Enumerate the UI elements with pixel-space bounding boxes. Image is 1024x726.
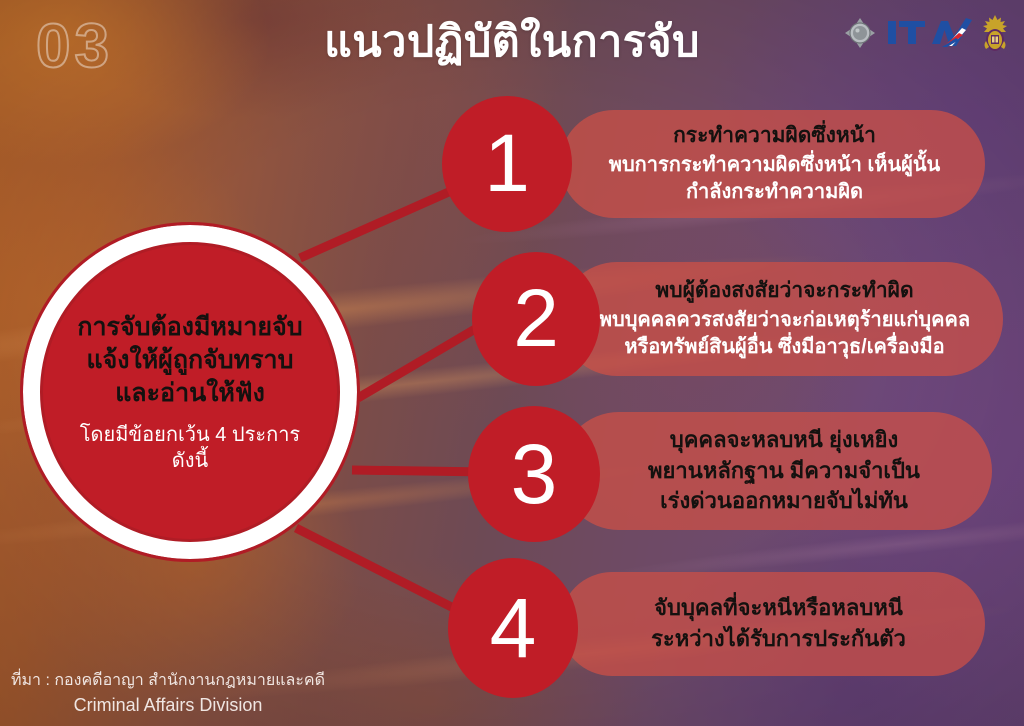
center-node: การจับต้องมีหมายจับ แจ้งให้ผู้ถูกจับทราบ…	[20, 222, 360, 562]
center-subtext-line-2: ดังนี้	[80, 448, 300, 474]
item-3-pill: บุคคลจะหลบหนี ยุ่งเหยิง พยานหลักฐาน มีคว…	[560, 412, 992, 530]
item-1-number: 1	[484, 123, 530, 205]
item-3-body: บุคคลจะหลบหนี ยุ่งเหยิง พยานหลักฐาน มีคว…	[648, 425, 920, 517]
item-2-body: พบบุคคลควรสงสัยว่าจะก่อเหตุร้ายแก่บุคคล …	[599, 307, 970, 361]
item-2-number-badge: 2	[472, 252, 600, 386]
center-subtext-line-1: โดยมีข้อยกเว้น 4 ประการ	[80, 422, 300, 448]
item-4-body-line-2: ระหว่างได้รับการประกันตัว	[651, 624, 906, 655]
center-headline-line-1: การจับต้องมีหมายจับ	[77, 311, 302, 344]
item-1-body-line-1: พบการกระทำความผิดซึ่งหน้า เห็นผู้นั้น	[609, 152, 940, 179]
connector-line-3	[352, 470, 487, 472]
item-2-heading: พบผู้ต้องสงสัยว่าจะกระทำผิด	[655, 277, 913, 304]
item-1-body: พบการกระทำความผิดซึ่งหน้า เห็นผู้นั้น กำ…	[609, 152, 940, 206]
item-1-number-badge: 1	[442, 96, 572, 232]
item-3-body-line-1: บุคคลจะหลบหนี ยุ่งเหยิง	[648, 425, 920, 456]
center-headline-line-3: และอ่านให้ฟัง	[77, 377, 302, 410]
center-headline: การจับต้องมีหมายจับ แจ้งให้ผู้ถูกจับทราบ…	[77, 311, 302, 410]
item-3-body-line-2: พยานหลักฐาน มีความจำเป็น	[648, 456, 920, 487]
item-3-number: 3	[511, 432, 558, 516]
item-4-number: 4	[490, 586, 537, 670]
footer-source-en: Criminal Affairs Division	[8, 692, 328, 718]
center-headline-line-2: แจ้งให้ผู้ถูกจับทราบ	[77, 344, 302, 377]
item-3-body-line-3: เร่งด่วนออกหมายจับไม่ทัน	[648, 486, 920, 517]
item-2-number: 2	[513, 278, 559, 360]
item-4-number-badge: 4	[448, 558, 578, 698]
item-2-body-line-1: พบบุคคลควรสงสัยว่าจะก่อเหตุร้ายแก่บุคคล	[599, 307, 970, 334]
item-2-body-line-2: หรือทรัพย์สินผู้อื่น ซึ่งมีอาวุธ/เครื่อง…	[599, 334, 970, 361]
item-4-pill: จับบุคลที่จะหนีหรือหลบหนี ระหว่างได้รับก…	[560, 572, 985, 676]
footer-source-th: ที่มา : กองคดีอาญา สำนักงานกฎหมายและคดี	[8, 669, 328, 692]
item-4-body-line-1: จับบุคลที่จะหนีหรือหลบหนี	[651, 593, 906, 624]
item-1-heading: กระทำความผิดซึ่งหน้า	[673, 122, 876, 149]
center-subtext: โดยมีข้อยกเว้น 4 ประการ ดังนี้	[80, 422, 300, 474]
item-3-number-badge: 3	[468, 406, 600, 542]
item-4-body: จับบุคลที่จะหนีหรือหลบหนี ระหว่างได้รับก…	[651, 593, 906, 655]
infographic-slide: 03 แนวปฏิบัติในการจับ	[0, 0, 1024, 726]
footer: ที่มา : กองคดีอาญา สำนักงานกฎหมายและคดี …	[8, 669, 328, 718]
item-1-body-line-2: กำลังกระทำความผิด	[609, 179, 940, 206]
item-1-pill: กระทำความผิดซึ่งหน้า พบการกระทำความผิดซึ…	[560, 110, 985, 218]
connector-line-2	[358, 322, 487, 398]
item-2-pill: พบผู้ต้องสงสัยว่าจะกระทำผิด พบบุคคลควรสง…	[560, 262, 1003, 376]
